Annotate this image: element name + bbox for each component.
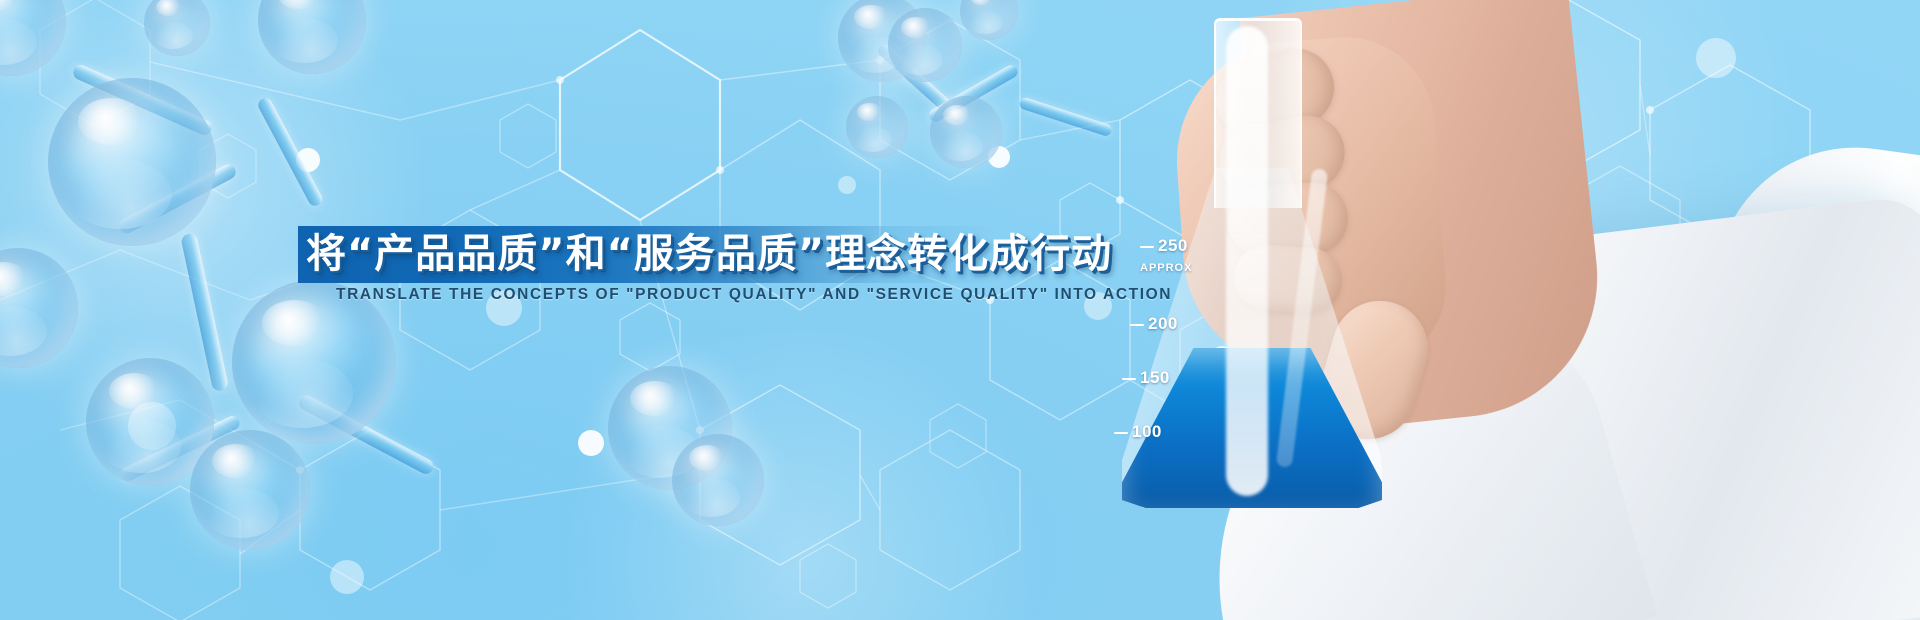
molecular-lattice-icon <box>0 0 1920 620</box>
hero-banner: 250 APPROX 200 150 100 将“产品品质”和“服务品质”理念转… <box>0 0 1920 620</box>
page-subtitle: TRANSLATE THE CONCEPTS OF "PRODUCT QUALI… <box>336 286 1172 304</box>
page-title: 将“产品品质”和“服务品质”理念转化成行动 <box>306 225 1112 283</box>
